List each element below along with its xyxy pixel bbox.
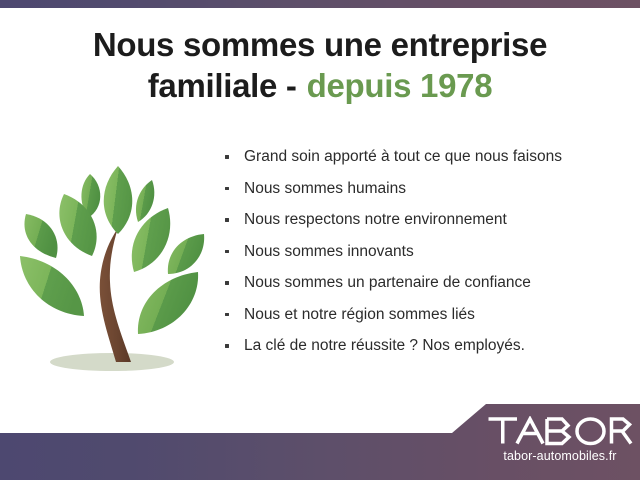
page-title: Nous sommes une entreprise familiale -de… (0, 26, 640, 106)
tabor-wordmark-icon (487, 416, 633, 446)
bullet-marker-icon (225, 187, 229, 191)
list-item-label: Nous sommes humains (244, 180, 406, 197)
top-accent-bar (0, 0, 640, 8)
title-line-2-main: familiale - (148, 67, 297, 104)
tree-icon (12, 152, 217, 388)
list-item: Nous sommes humains (222, 180, 622, 197)
bullet-marker-icon (225, 344, 229, 348)
title-accent-year: depuis 1978 (307, 67, 493, 104)
bullet-marker-icon (225, 313, 229, 317)
bullet-marker-icon (225, 281, 229, 285)
list-item-label: Nous et notre région sommes liés (244, 306, 475, 323)
list-item-label: Nous sommes innovants (244, 243, 414, 260)
title-line-2: familiale -depuis 1978 (0, 67, 640, 105)
bullet-marker-icon (225, 250, 229, 254)
logo-tagline: tabor-automobiles.fr (487, 449, 633, 463)
list-item: Grand soin apporté à tout ce que nous fa… (222, 148, 622, 165)
title-line-1: Nous sommes une entreprise (0, 26, 640, 64)
slide-canvas: Nous sommes une entreprise familiale -de… (0, 0, 640, 480)
list-item: Nous respectons notre environnement (222, 211, 622, 228)
list-item-label: Grand soin apporté à tout ce que nous fa… (244, 148, 562, 165)
tree-illustration: Arbre stylisé à feuilles vertes avec tro… (12, 152, 217, 388)
brand-logo[interactable]: tabor-automobiles.fr TABOR (487, 416, 633, 463)
tree-trunk (100, 228, 131, 362)
list-item: Nous et notre région sommes liés (222, 306, 622, 323)
list-item-label: Nous respectons notre environnement (244, 211, 507, 228)
list-item: Nous sommes un partenaire de confiance (222, 274, 622, 291)
list-item-label: La clé de notre réussite ? Nos employés. (244, 337, 525, 354)
benefits-list: Grand soin apporté à tout ce que nous fa… (222, 148, 622, 369)
bullet-marker-icon (225, 155, 229, 159)
tree-shadow (50, 353, 174, 371)
bullet-marker-icon (225, 218, 229, 222)
footer-band: tabor-automobiles.fr TABOR (0, 400, 640, 480)
tree-alt-text: Arbre stylisé à feuilles vertes avec tro… (217, 152, 218, 153)
list-item: La clé de notre réussite ? Nos employés. (222, 337, 622, 354)
list-item: Nous sommes innovants (222, 243, 622, 260)
list-item-label: Nous sommes un partenaire de confiance (244, 274, 531, 291)
